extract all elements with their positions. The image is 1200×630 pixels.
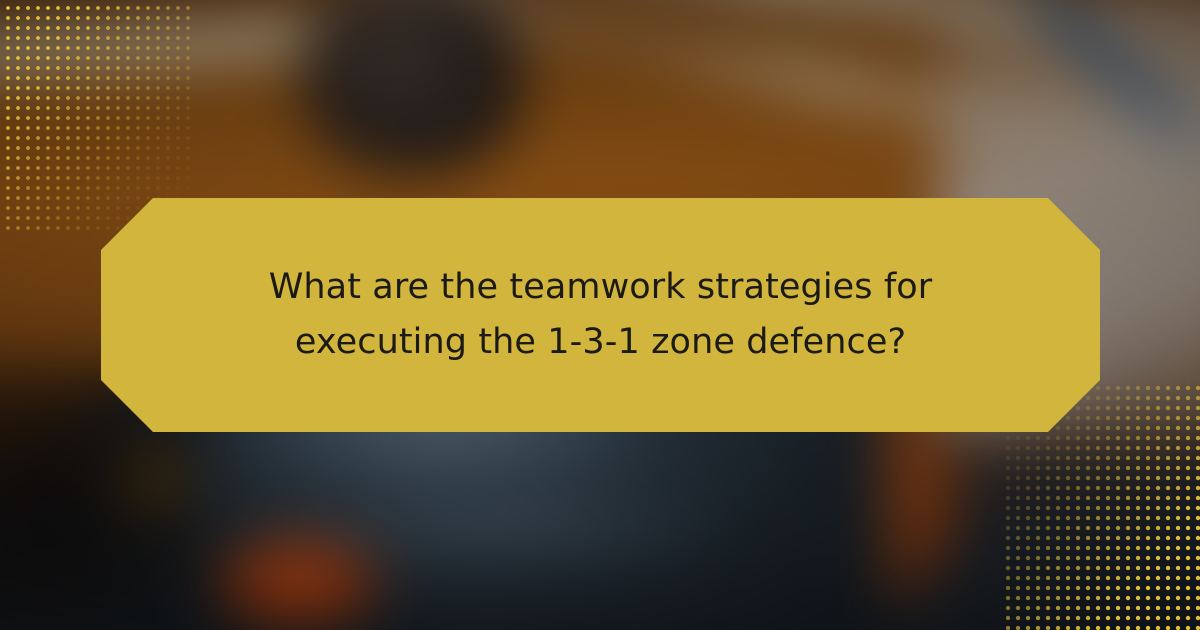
poster-canvas: What are the teamwork strategies for exe… bbox=[0, 0, 1200, 630]
question-text: What are the teamwork strategies for exe… bbox=[211, 260, 990, 371]
question-card: What are the teamwork strategies for exe… bbox=[101, 198, 1100, 432]
